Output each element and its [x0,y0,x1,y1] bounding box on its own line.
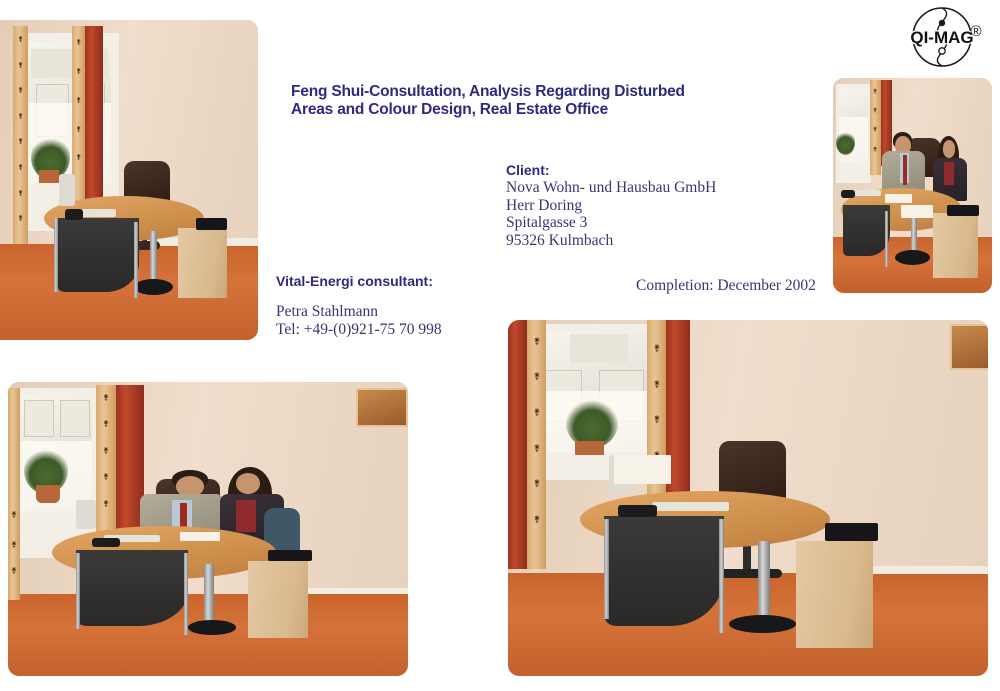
consultant-block: Vital-Energi consultant: Petra Stahlmann… [276,273,442,339]
completion-label: Completion: December 2002 [636,277,816,295]
consultant-phone: Tel: +49-(0)921-75 70 998 [276,321,442,339]
photo-consultation-closeup: ⚵ ⚵ ⚵ ⚵ [833,78,992,293]
client-line-company: Nova Wohn- und Hausbau GmbH [506,179,716,197]
yin-yang-circle-icon: QI-MAG ® [906,4,994,70]
photo-office-overview: ⚵ ⚵ ⚵ ⚵ ⚵ ⚵ ⚵ ⚵ ⚵ ⚵ ⚵ ⚵ ⚵ [0,20,258,340]
client-block: Client: Nova Wohn- und Hausbau GmbH Herr… [506,162,716,249]
svg-text:®: ® [970,23,981,40]
photo-office-empty: ⚵ ⚵ ⚵ ⚵ ⚵ ⚵ ⚵ ⚵ ⚵ ⚵ [508,320,988,676]
consultant-heading: Vital-Energi consultant: [276,273,442,289]
client-line-contact: Herr Doring [506,197,716,215]
client-heading: Client: [506,162,716,179]
photo-consultation-wide: ⚵ ⚵ ⚵ ⚵ ⚵ ⚵ ⚵ ⚵ [8,382,408,676]
client-line-street: Spitalgasse 3 [506,214,716,232]
qi-mag-logo: QI-MAG ® [906,4,994,70]
page-title: Feng Shui-Consultation, Analysis Regardi… [291,83,711,118]
document-page: QI-MAG ® Feng Shui-Consultation, Analysi… [0,0,1000,691]
svg-text:QI-MAG: QI-MAG [910,28,973,47]
consultant-name: Petra Stahlmann [276,303,442,321]
client-line-city: 95326 Kulmbach [506,232,716,250]
